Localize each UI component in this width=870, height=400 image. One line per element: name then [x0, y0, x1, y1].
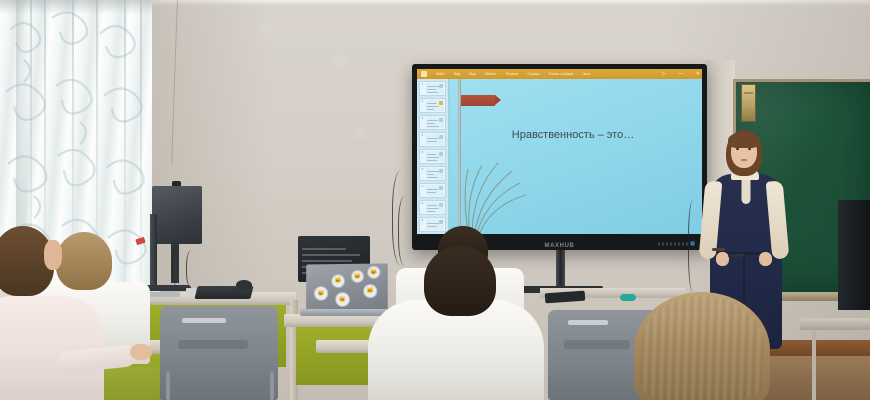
- desk-small-item: [186, 288, 196, 294]
- chair-leg: [270, 372, 274, 400]
- chair-leg: [166, 372, 170, 400]
- teacher-mouth: [741, 159, 747, 161]
- slide-thumbnail-preview: [426, 83, 444, 94]
- menu-item-view[interactable]: Вид: [469, 72, 475, 76]
- sticker-cat-glyph: 🐱: [366, 288, 374, 294]
- classroom-scene: РАСПИСАНИЕ Файл Вид Вид Объект Формат Се…: [0, 0, 870, 400]
- slide-number: 3: [420, 116, 425, 129]
- slide-number: 6: [420, 167, 425, 180]
- wall-blemish: [258, 24, 272, 32]
- monitor-stand-column: [150, 214, 157, 289]
- board-plaque: РАСПИСАНИЕ: [741, 84, 756, 122]
- slide-thumbnail[interactable]: 1: [419, 81, 446, 96]
- slide-number: 4: [420, 133, 425, 146]
- chair-groove: [178, 340, 248, 349]
- slide-thumbnail-preview: [426, 117, 444, 128]
- slide-number: 8: [420, 201, 425, 214]
- student-hair: [424, 246, 496, 316]
- thumbnail-badge: [439, 169, 443, 173]
- laptop[interactable]: 🐱 🐱 🐱 🐱 🐱 🐱: [306, 263, 388, 312]
- slide-number: 7: [420, 184, 425, 197]
- monitor-vent: [302, 254, 360, 256]
- slide-thumbnail-panel[interactable]: 1 2 3: [417, 79, 449, 234]
- close-icon[interactable]: ✕: [694, 71, 702, 77]
- slide-thumbnail[interactable]: 7: [419, 183, 446, 198]
- thumbnail-badge: [439, 101, 443, 105]
- slide-thumbnail[interactable]: 6: [419, 166, 446, 181]
- sticker-cat: 🐱: [367, 266, 380, 279]
- teacher-eye-right: [748, 148, 751, 150]
- slide-thumbnail-preview: [426, 168, 444, 179]
- thumbnail-badge: [439, 152, 443, 156]
- sticker-cat-glyph: 🐱: [334, 278, 341, 284]
- wall-blemish: [330, 56, 350, 65]
- signpost-arrow-graphic: [461, 95, 495, 106]
- menu-item-slideshow[interactable]: Показ слайдов: [549, 72, 574, 76]
- green-bottle: [620, 294, 636, 301]
- slide-thumbnail[interactable]: 2: [419, 98, 446, 113]
- sticker-cat: 🐱: [331, 274, 345, 288]
- sticker-cat-glyph: 🐱: [370, 269, 378, 275]
- thumbnail-badge: [439, 84, 443, 88]
- slide-thumbnail[interactable]: 4: [419, 132, 446, 147]
- slide-thumbnail-preview: [426, 202, 444, 213]
- slide-thumbnail-preview: [426, 134, 444, 145]
- whiteboard-screen[interactable]: Файл Вид Вид Объект Формат Сервис Показ …: [417, 69, 702, 234]
- board-plaque-text: РАСПИСАНИЕ: [744, 91, 753, 95]
- desk-cable-bundle: [146, 292, 180, 297]
- teacher-bracelet: [712, 248, 725, 251]
- slide-title-text: Нравственность – это…: [450, 129, 696, 141]
- wall-blemish: [352, 130, 368, 138]
- minimize-icon[interactable]: —: [677, 71, 685, 77]
- whiteboard-brand-logo: MAXHUB: [545, 243, 575, 249]
- slide-number: 1: [420, 82, 425, 95]
- app-logo-icon: [421, 71, 427, 77]
- chair-handle-slot: [182, 318, 226, 323]
- desktop-monitor: [152, 186, 202, 244]
- student-hair: [56, 232, 112, 290]
- cable: [688, 200, 700, 292]
- sticker-cat-glyph: 🐱: [339, 296, 346, 302]
- grass-blades-graphic: [456, 143, 536, 234]
- chair-handle-slot: [568, 320, 608, 325]
- slide-thumbnail[interactable]: 9: [419, 217, 446, 232]
- server-cabinet: [838, 200, 870, 310]
- chair: [160, 306, 278, 400]
- menu-item-object[interactable]: Объект: [485, 72, 497, 76]
- sticker-cat: 🐱: [363, 284, 377, 298]
- menu-item-file[interactable]: Файл: [436, 72, 445, 76]
- sticker-cat-glyph: 🐱: [354, 273, 362, 279]
- slide-thumbnail[interactable]: 3: [419, 115, 446, 130]
- slide-number: 2: [420, 99, 425, 112]
- curtain-fold: [140, 0, 142, 300]
- curtain-fold: [124, 0, 126, 300]
- sticker-cat: 🐱: [351, 270, 364, 283]
- slide-thumbnail[interactable]: 8: [419, 200, 446, 215]
- menu-item-window[interactable]: Окно: [582, 72, 590, 76]
- side-table: [800, 318, 870, 330]
- teacher-right-hand: [759, 252, 772, 266]
- side-table-leg: [812, 330, 816, 400]
- teacher-eye-left: [736, 148, 739, 150]
- monitor-vent: [302, 248, 346, 250]
- student-ear-cheek: [44, 240, 62, 270]
- whiteboard-stand-column: [556, 250, 565, 288]
- sticker-cat: 🐱: [314, 286, 328, 301]
- thumbnail-badge: [439, 135, 443, 139]
- slide-thumbnail-preview: [426, 185, 444, 196]
- slide-thumbnail-preview: [426, 100, 444, 111]
- monitor-vent: [302, 260, 352, 262]
- slide-number: 5: [420, 150, 425, 163]
- teacher-left-hand: [716, 252, 729, 266]
- teacher-hair-front: [728, 132, 760, 148]
- sticker-cat-glyph: 🐱: [317, 290, 324, 296]
- presentation-toolbar[interactable]: Файл Вид Вид Объект Формат Сервис Показ …: [417, 69, 702, 79]
- menu-item-edit[interactable]: Вид: [454, 72, 460, 76]
- menu-item-tools[interactable]: Сервис: [527, 72, 539, 76]
- teacher-dress-neckline: [742, 176, 751, 204]
- interactive-whiteboard[interactable]: Файл Вид Вид Объект Формат Сервис Показ …: [412, 64, 707, 250]
- thumbnail-badge: [439, 118, 443, 122]
- slide-thumbnail-preview: [426, 219, 444, 230]
- thumbnail-badge: [439, 186, 443, 190]
- student-hand: [130, 344, 152, 360]
- slide-number: 9: [420, 218, 425, 231]
- mouse[interactable]: [236, 280, 252, 290]
- chair-groove: [564, 340, 630, 349]
- slide-canvas[interactable]: Нравственность – это…: [450, 79, 702, 234]
- play-slideshow-icon[interactable]: ▷: [660, 71, 668, 77]
- teacher-belt-tie: [743, 255, 745, 309]
- thumbnail-badge: [439, 220, 443, 224]
- thumbnail-badge: [439, 203, 443, 207]
- cable: [186, 250, 200, 288]
- menu-item-format[interactable]: Формат: [506, 72, 519, 76]
- slide-thumbnail-preview: [426, 151, 444, 162]
- slide-thumbnail[interactable]: 5: [419, 149, 446, 164]
- sticker-cat: 🐱: [335, 292, 350, 307]
- student-hair-strands: [640, 296, 764, 400]
- cable: [398, 196, 414, 266]
